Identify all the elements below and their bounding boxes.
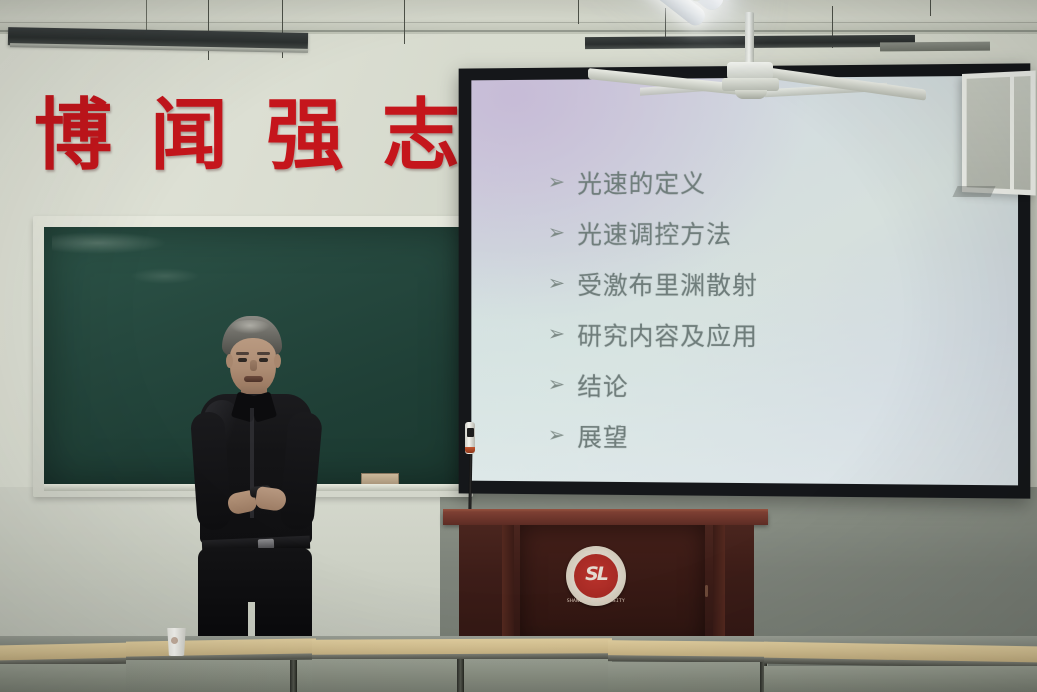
emblem-monogram: SL: [574, 564, 618, 584]
slide-item: ➢ 光速调控方法: [548, 206, 1000, 258]
slide-item-label: 光速调控方法: [577, 215, 732, 251]
presenter: [186, 316, 326, 648]
slide-item: ➢ 研究内容及应用: [548, 309, 1000, 361]
emblem-english-name: SHANGLUO UNIVERSITY: [566, 599, 626, 604]
presenter-ear: [226, 354, 233, 368]
fluorescent-tube: [508, 0, 709, 29]
slide-item-label: 研究内容及应用: [577, 316, 758, 352]
presenter-ear: [274, 354, 281, 368]
hanging-wire: [930, 0, 931, 16]
arrow-bullet-icon: ➢: [548, 425, 578, 446]
desk-leg: [290, 660, 297, 692]
wall-banner: 博 闻 强 志: [34, 96, 460, 176]
hanging-wire: [404, 0, 405, 44]
desk-panel: [764, 666, 1037, 692]
arrow-bullet-icon: ➢: [548, 273, 578, 294]
presenter-mouth: [244, 376, 263, 382]
slide-item: ➢ 受激布里渊散射: [548, 258, 1000, 310]
window-mullion: [1010, 74, 1014, 192]
arrow-bullet-icon: ➢: [548, 172, 578, 193]
desk-panel: [0, 664, 128, 692]
banner-char-2: 闻: [150, 96, 228, 176]
podium-top: [443, 512, 768, 525]
desk-leg: [457, 659, 464, 692]
arrow-bullet-icon: ➢: [548, 374, 578, 395]
slide-item-label: 结论: [577, 367, 628, 403]
cup-logo: [171, 637, 178, 644]
arrow-bullet-icon: ➢: [548, 324, 578, 345]
slide-item-label: 受激布里渊散射: [577, 265, 758, 301]
presenter-eyebrow: [257, 352, 270, 355]
arrow-bullet-icon: ➢: [548, 222, 578, 243]
slide-item-label: 展望: [577, 418, 628, 454]
banner-char-1: 博: [34, 96, 112, 176]
window-shadow: [952, 186, 995, 197]
open-window[interactable]: [962, 70, 1036, 195]
slide-item: ➢ 光速的定义: [548, 155, 1000, 208]
podium-stile: [713, 525, 725, 648]
desk-panel: [126, 660, 316, 692]
microphone-switch[interactable]: [467, 428, 474, 437]
presenter-eye: [259, 358, 268, 362]
microphone-band: [465, 447, 475, 453]
projection-screen: ➢ 光速的定义 ➢ 光速调控方法 ➢ 受激布里渊散射 ➢ 研究内容及应用 ➢: [471, 76, 1018, 486]
banner-char-3: 强: [266, 96, 344, 176]
slide-bullet-list: ➢ 光速的定义 ➢ 光速调控方法 ➢ 受激布里渊散射 ➢ 研究内容及应用 ➢: [548, 155, 1000, 464]
university-emblem: 商洛学院 SL SHANGLUO UNIVERSITY: [566, 546, 626, 606]
desk-panel: [608, 662, 768, 692]
projection-screen-frame: ➢ 光速的定义 ➢ 光速调控方法 ➢ 受激布里渊散射 ➢ 研究内容及应用 ➢: [459, 63, 1031, 498]
podium-latch[interactable]: [705, 585, 708, 597]
presenter-eye: [238, 358, 247, 362]
fan-downrod: [745, 12, 754, 68]
banner-char-4: 志: [382, 96, 460, 176]
chalk-smudge: [52, 232, 167, 254]
podium-stile: [502, 525, 514, 648]
presenter-eyebrow: [236, 352, 249, 355]
dark-light-fixture-right-lip: [880, 42, 990, 52]
classroom-scene: 博 闻 强 志 ➢ 光速的定义 ➢ 光速调控方法 ➢ 受激: [0, 0, 1037, 692]
chalk-smudge: [130, 268, 200, 284]
slide-item-label: 光速的定义: [577, 164, 706, 200]
slide-item: ➢ 展望: [548, 410, 1000, 464]
emblem-center: SL: [574, 554, 618, 598]
presenter-hair-highlight: [230, 320, 270, 334]
slide-item: ➢ 结论: [548, 359, 1000, 412]
presenter-nose: [250, 360, 257, 371]
fan-cap: [735, 90, 767, 99]
